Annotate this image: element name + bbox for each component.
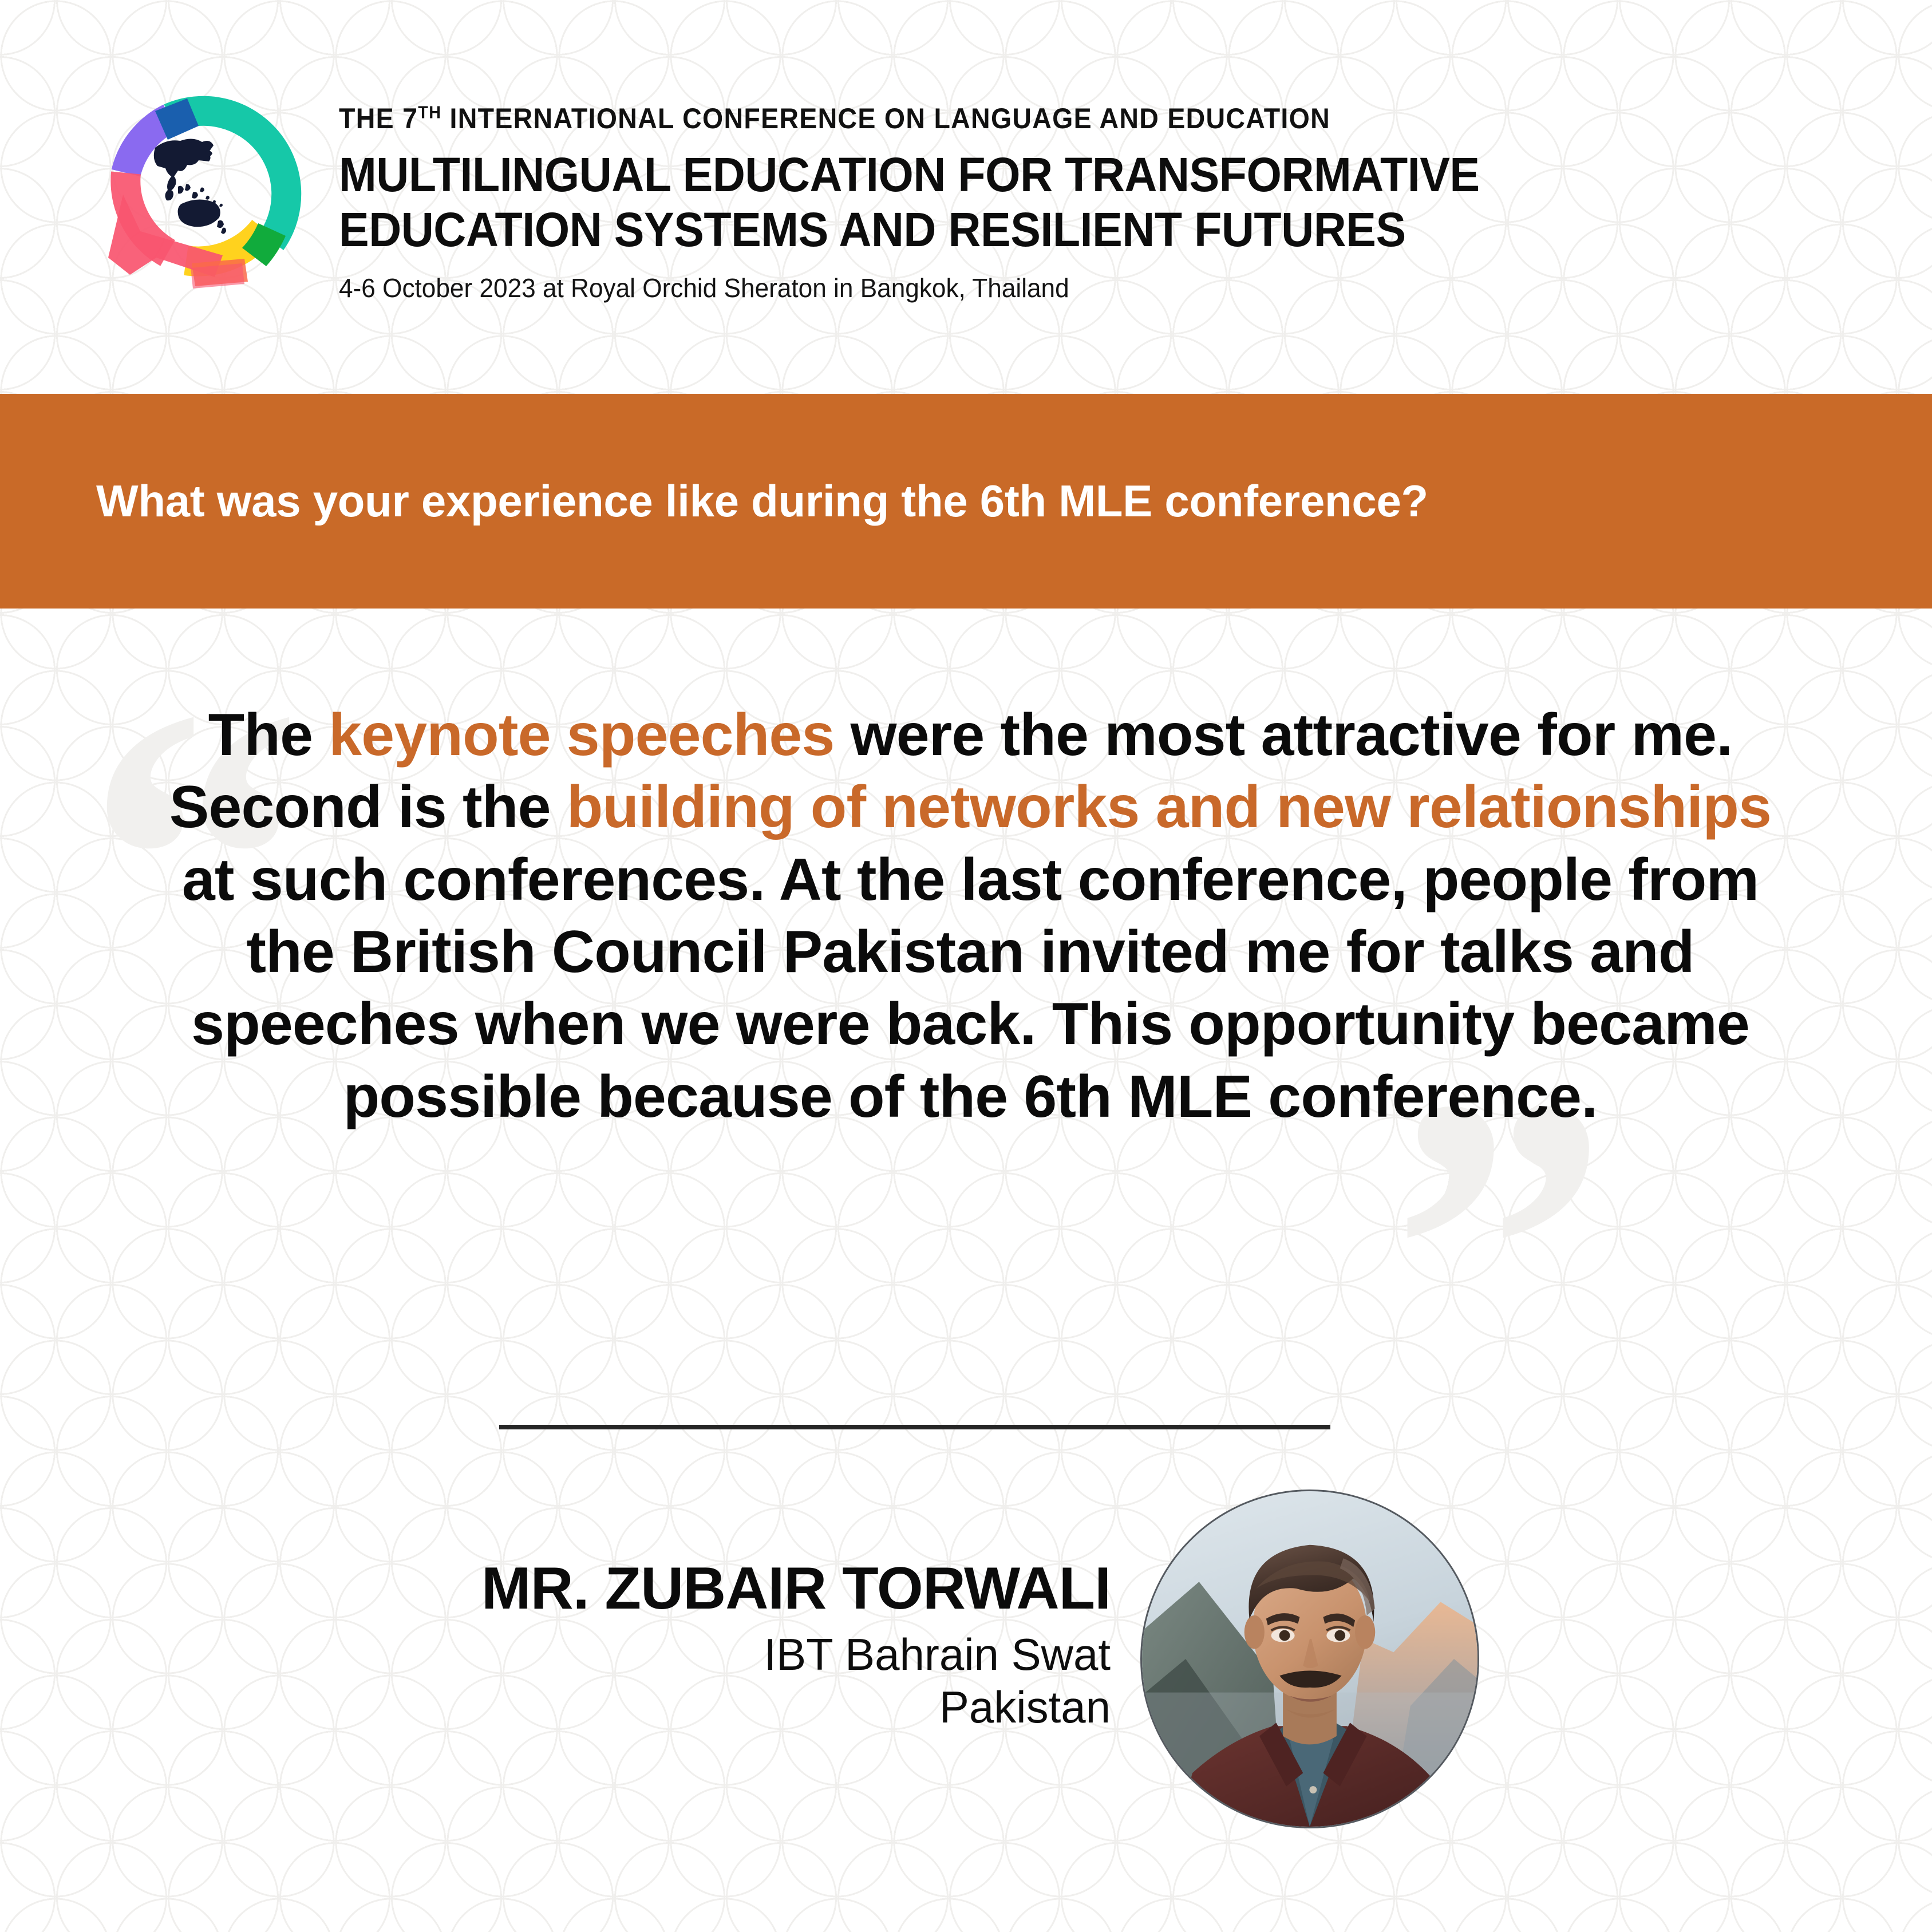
conference-title-line-2: EDUCATION SYSTEMS AND RESILIENT FUTURES bbox=[339, 203, 1577, 258]
conference-header: THE 7TH INTERNATIONAL CONFERENCE ON LANG… bbox=[0, 0, 1932, 394]
conference-title: MULTILINGUAL EDUCATION FOR TRANSFORMATIV… bbox=[339, 148, 1656, 258]
question-text: What was your experience like during the… bbox=[0, 475, 1428, 527]
speaker-name: MR. ZUBAIR TORWALI bbox=[366, 1557, 1111, 1620]
mle-speech-bubble-asia-pacific-logo-icon bbox=[100, 86, 312, 303]
quote-segment-3: building of networks and new relationshi… bbox=[567, 774, 1771, 840]
speaker-country: Pakistan bbox=[366, 1681, 1111, 1733]
quote-segment-4: at such conferences. At the last confere… bbox=[182, 847, 1759, 1130]
kicker-rest: INTERNATIONAL CONFERENCE ON LANGUAGE AND… bbox=[441, 102, 1330, 135]
quote-section: “ ” The keynote speeches were the most a… bbox=[0, 609, 1932, 1427]
kicker-prefix: THE 7 bbox=[339, 102, 418, 135]
speaker-portrait-avatar bbox=[1140, 1490, 1479, 1828]
quote-text: The keynote speeches were the most attra… bbox=[155, 699, 1786, 1133]
conference-title-line-1: MULTILINGUAL EDUCATION FOR TRANSFORMATIV… bbox=[339, 148, 1577, 203]
header-text-block: THE 7TH INTERNATIONAL CONFERENCE ON LANG… bbox=[339, 102, 1656, 303]
quote-segment-0: The bbox=[208, 702, 329, 768]
conference-kicker: THE 7TH INTERNATIONAL CONFERENCE ON LANG… bbox=[339, 102, 1563, 135]
conference-date-venue: 4-6 October 2023 at Royal Orchid Sherato… bbox=[339, 272, 1603, 303]
attribution-block: MR. ZUBAIR TORWALI IBT Bahrain Swat Paki… bbox=[366, 1557, 1111, 1733]
question-banner: What was your experience like during the… bbox=[0, 394, 1932, 609]
speaker-organization: IBT Bahrain Swat bbox=[366, 1628, 1111, 1681]
kicker-ordinal-suffix: TH bbox=[418, 102, 441, 122]
attribution-divider bbox=[499, 1425, 1330, 1429]
quote-segment-1: keynote speeches bbox=[329, 702, 834, 768]
